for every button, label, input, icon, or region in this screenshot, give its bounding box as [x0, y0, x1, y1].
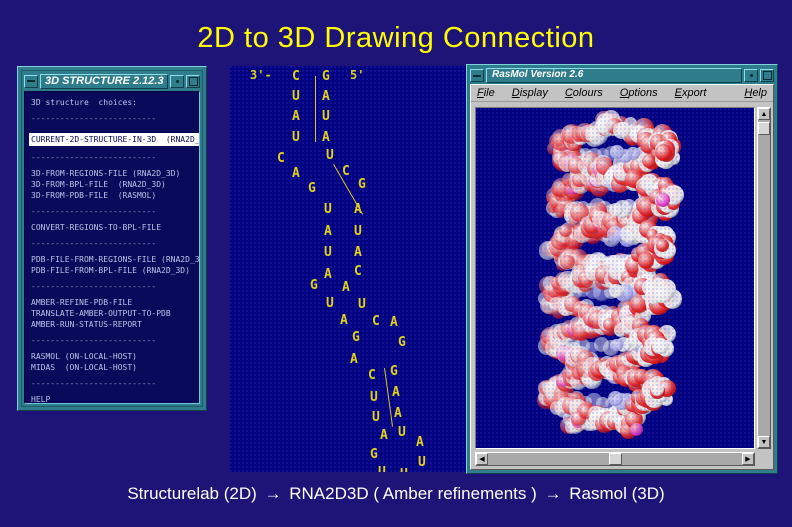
atom-sphere [609, 203, 622, 216]
molecule-viewport[interactable] [475, 107, 755, 449]
rna-base: G [322, 70, 330, 83]
rna-base: C [372, 315, 380, 328]
menu-separator: -------------------------- [31, 238, 193, 249]
restore-icon[interactable] [170, 75, 184, 88]
menu-item[interactable]: 3D-FROM-BPL-FILE (RNA2D_3D) [31, 179, 193, 190]
rna-base: A [292, 167, 300, 180]
rna-base: G [352, 331, 360, 344]
rna-base: U [324, 246, 332, 259]
rna-base: A [324, 268, 332, 281]
rasmol-window-title: RasMol Version 2.6 [486, 68, 742, 83]
vertical-scrollbar[interactable]: ▲ ▼ [757, 107, 771, 449]
structure-window: 3D STRUCTURE 2.12.3 3D structure choices… [17, 66, 207, 411]
scroll-right-icon[interactable]: ▶ [742, 453, 754, 465]
rna-base: G [310, 279, 318, 292]
maximize-icon[interactable] [760, 69, 774, 82]
rna-base: G [308, 182, 316, 195]
menu-item[interactable]: TRANSLATE-AMBER-OUTPUT-TO-PDB [31, 308, 193, 319]
rna-base: C [277, 152, 285, 165]
caption-part-structurelab: Structurelab (2D) [127, 484, 256, 503]
menu-item[interactable]: 3D-FROM-REGIONS-FILE (RNA2D_3D) [31, 168, 193, 179]
rna-base: U [372, 411, 380, 424]
atom-sphere [654, 286, 671, 303]
menu-item[interactable]: CONVERT-REGIONS-TO-BPL-FILE [31, 222, 193, 233]
rna-base: A [390, 316, 398, 329]
rna-base: C [368, 369, 376, 382]
rna-secondary-structure-panel: 3'- 5' CGUAAUUACUACGGUAAUUAACGAUUACGAAGC… [230, 66, 466, 472]
menu-separator: -------------------------- [31, 378, 193, 389]
rna-base: U [370, 391, 378, 404]
rna-base: A [394, 407, 402, 420]
caption-part-rasmol: Rasmol (3D) [569, 484, 664, 503]
menu-item[interactable]: AMBER-REFINE-PDB-FILE [31, 297, 193, 308]
minimize-icon[interactable] [470, 69, 484, 82]
menu-separator: -------------------------- [31, 206, 193, 217]
rna-base: U [292, 131, 300, 144]
menu-heading: 3D structure choices: [31, 97, 193, 108]
scroll-left-icon[interactable]: ◀ [476, 453, 488, 465]
menu-item-selected-wrap: CURRENT-2D-STRUCTURE-IN-3D (RNA2D_3D) [31, 129, 193, 147]
menu-item[interactable]: RASMOL (ON-LOCAL-HOST) [31, 351, 193, 362]
structure-window-inner: 3D STRUCTURE 2.12.3 3D structure choices… [21, 70, 203, 407]
page-title: 2D to 3D Drawing Connection [0, 22, 792, 55]
rna-base: A [350, 353, 358, 366]
horizontal-scroll-thumb[interactable] [609, 453, 622, 465]
rna-base: C [354, 265, 362, 278]
menu-item[interactable]: HELP [31, 394, 193, 404]
vertical-scroll-thumb[interactable] [758, 122, 770, 135]
menu-separator: -------------------------- [31, 113, 193, 124]
rna-base: U [418, 456, 426, 469]
rna-base: G [398, 336, 406, 349]
rna-base: G [390, 365, 398, 378]
rna-3prime-label: 3'- [250, 68, 272, 82]
rasmol-client-area: File Display Colours Options Export Help… [470, 84, 774, 470]
menu-item[interactable]: 3D-FROM-PDB-FILE (RASMOL) [31, 190, 193, 201]
menu-item[interactable]: AMBER-RUN-STATUS-REPORT [31, 319, 193, 330]
horizontal-scrollbar[interactable]: ◀ ▶ [475, 452, 755, 466]
scroll-down-icon[interactable]: ▼ [758, 436, 770, 448]
rna-base: A [392, 386, 400, 399]
rna-helix-line [315, 76, 316, 142]
maximize-icon[interactable] [186, 75, 200, 88]
rasmol-titlebar[interactable]: RasMol Version 2.6 [470, 68, 774, 83]
rna-base: C [342, 165, 350, 178]
rna-base: U [292, 90, 300, 103]
rna-5prime-label: 5' [350, 68, 364, 82]
menu-item-current-2d-structure-in-3d[interactable]: CURRENT-2D-STRUCTURE-IN-3D (RNA2D_3D) [29, 133, 200, 146]
rna-base: U [324, 203, 332, 216]
rna-base: A [342, 281, 350, 294]
rna-base: G [358, 178, 366, 191]
rna-base: A [416, 436, 424, 449]
rna-base: U [378, 466, 386, 472]
menu-item[interactable]: PDB-FILE-FROM-REGIONS-FILE (RNA2D_3D) [31, 254, 193, 265]
menu-separator: -------------------------- [31, 335, 193, 346]
structure-menu-body: 3D structure choices: ------------------… [24, 91, 200, 404]
rna-base: U [322, 110, 330, 123]
rna-base: G [370, 448, 378, 461]
atom-sphere [656, 193, 670, 207]
menu-export[interactable]: Export [675, 87, 707, 99]
menu-file[interactable]: File [477, 87, 495, 99]
menu-item[interactable]: MIDAS (ON-LOCAL-HOST) [31, 362, 193, 373]
rna-base: A [322, 90, 330, 103]
rna-base: U [326, 149, 334, 162]
slide-caption: Structurelab (2D) → RNA2D3D ( Amber refi… [0, 484, 792, 504]
rna-base: A [340, 314, 348, 327]
rna-base: A [354, 246, 362, 259]
rna-base: A [292, 110, 300, 123]
menu-options[interactable]: Options [620, 87, 658, 99]
rna-base: C [292, 70, 300, 83]
scroll-up-icon[interactable]: ▲ [758, 108, 770, 120]
rasmol-menubar: File Display Colours Options Export Help [471, 85, 773, 102]
caption-arrow-2: → [542, 484, 565, 503]
rna-base: U [358, 298, 366, 311]
rna-base: U [400, 468, 408, 472]
menu-item[interactable]: PDB-FILE-FROM-BPL-FILE (RNA2D_3D) [31, 265, 193, 276]
atom-sphere [610, 339, 623, 352]
rna-base: A [322, 131, 330, 144]
rasmol-window: RasMol Version 2.6 File Display Colours … [466, 64, 778, 474]
rna-base: U [398, 426, 406, 439]
menu-colours[interactable]: Colours [565, 87, 603, 99]
atom-sphere [610, 145, 624, 159]
rna-base: A [380, 429, 388, 442]
rna-base: U [326, 297, 334, 310]
atom-sphere [595, 117, 613, 135]
rna-3d-molecule [476, 108, 754, 448]
menu-help[interactable]: Help [744, 87, 767, 99]
caption-arrow-1: → [262, 484, 285, 503]
structure-window-title: 3D STRUCTURE 2.12.3 [40, 74, 168, 89]
atom-sphere [630, 423, 643, 436]
structure-window-titlebar[interactable]: 3D STRUCTURE 2.12.3 [24, 73, 200, 89]
restore-icon[interactable] [744, 69, 758, 82]
caption-part-rna2d3d: RNA2D3D ( Amber refinements ) [289, 484, 537, 503]
menu-separator: -------------------------- [31, 281, 193, 292]
menu-separator: -------------------------- [31, 152, 193, 163]
rna-base: U [354, 225, 362, 238]
minimize-icon[interactable] [24, 75, 38, 88]
rna-base: A [324, 225, 332, 238]
menu-display[interactable]: Display [512, 87, 548, 99]
